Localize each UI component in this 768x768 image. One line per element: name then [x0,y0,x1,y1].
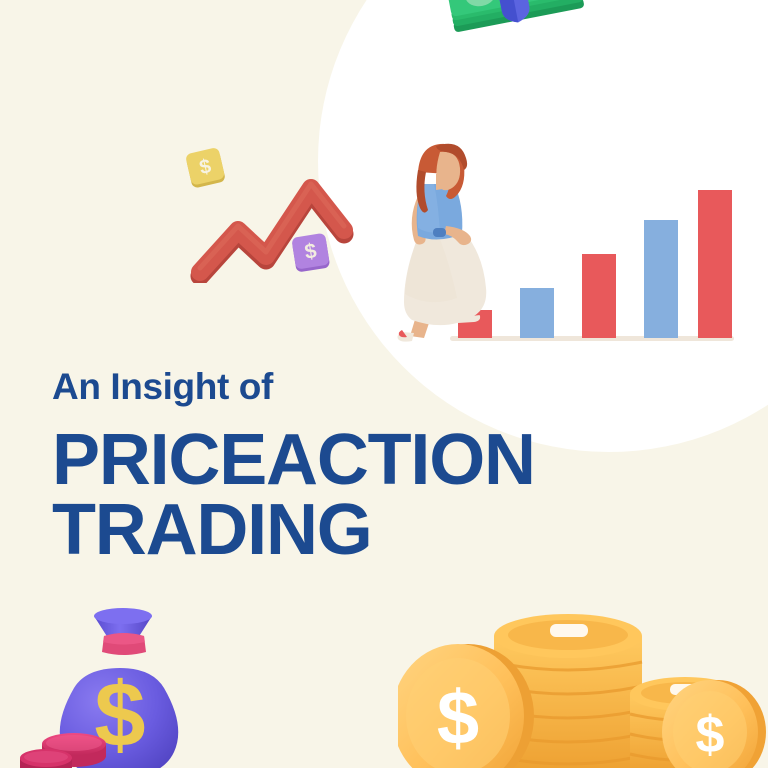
bar-4 [644,220,678,338]
bar-5 [698,190,732,338]
money-bag-icon: $ [16,596,256,768]
title-line-1: PRICEACTION [52,425,672,496]
dollar-tile-purple-icon: $ [288,228,336,280]
headline-block: An Insight of PRICEACTION TRADING [52,368,672,566]
coin-dollar-symbol-right: $ [696,706,725,764]
title-line-2: TRADING [52,495,672,566]
climbing-woman-figure [398,144,487,342]
gold-coin-stacks-icon: $ $ [398,604,768,768]
page-title: PRICEACTION TRADING [52,425,672,566]
gold-coin-stacks-illustration: $ $ [398,604,768,768]
bar-chart-illustration [380,140,740,350]
money-bag-illustration: $ [16,596,256,768]
cash-stack-icon: $ [440,0,600,76]
cash-stack-illustration: $ [440,0,600,76]
poster-canvas: $ $ $ [0,0,768,768]
coin-dollar-symbol-left: $ [437,676,479,761]
eyebrow-text: An Insight of [52,368,672,407]
bar-2 [520,288,554,338]
dollar-tile-purple-illustration: $ [288,228,336,280]
bar-3 [582,254,616,338]
bar-chart-svg [380,140,740,350]
